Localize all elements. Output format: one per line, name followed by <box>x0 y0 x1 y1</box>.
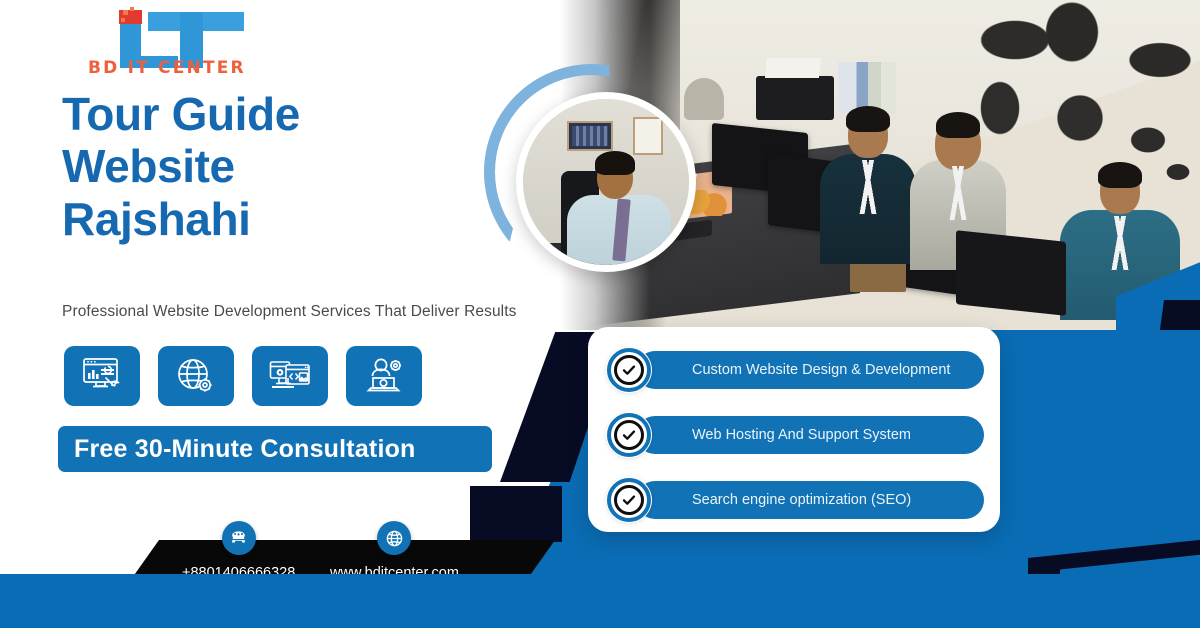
contact-phone[interactable]: +8801406666328 <box>182 521 295 581</box>
laptop <box>956 230 1066 316</box>
support-agent-laptop-gear-icon[interactable] <box>346 346 422 406</box>
check-circle-icon <box>606 412 652 458</box>
tagline: Professional Website Development Service… <box>62 303 562 321</box>
office-chair <box>684 78 724 120</box>
decorative-navy-block <box>470 486 562 542</box>
headline-line-2: Website <box>62 140 522 192</box>
logo-red-dot <box>119 10 142 24</box>
feature-item[interactable]: Web Hosting And Support System <box>606 408 982 462</box>
check-circle-icon <box>606 347 652 393</box>
web-design-code-icon[interactable] <box>252 346 328 406</box>
globe-icon <box>377 521 411 555</box>
feature-item[interactable]: Search engine optimization (SEO) <box>606 473 982 527</box>
globe-gear-icon[interactable] <box>158 346 234 406</box>
monitor-analytics-wrench-icon[interactable] <box>64 346 140 406</box>
wall-photo-frame <box>567 121 613 151</box>
feature-item[interactable]: Custom Website Design & Development <box>606 343 982 397</box>
check-circle-icon <box>606 477 652 523</box>
promotional-banner: BD IT CENTER Tour Guide Website Rajshahi… <box>0 0 1200 628</box>
feature-label: Web Hosting And Support System <box>636 416 984 454</box>
printer-icon <box>756 76 834 120</box>
contact-website[interactable]: www.bditcenter.com <box>330 521 459 581</box>
cta-button[interactable]: Free 30-Minute Consultation <box>58 426 492 472</box>
portrait-photo <box>516 92 696 272</box>
page-title: Tour Guide Website Rajshahi <box>62 88 522 245</box>
logo-wordmark: BD IT CENTER <box>88 58 268 78</box>
wall-certificate <box>633 117 663 155</box>
headline-line-1: Tour Guide <box>62 88 522 140</box>
service-icon-row <box>64 346 422 406</box>
feature-label: Search engine optimization (SEO) <box>636 481 984 519</box>
features-card: Custom Website Design & Development Web … <box>588 327 1000 532</box>
telephone-icon <box>222 521 256 555</box>
logo-mark-it <box>106 6 266 54</box>
bottom-accent-bar <box>0 574 1200 628</box>
company-logo[interactable]: BD IT CENTER <box>88 6 268 78</box>
feature-label: Custom Website Design & Development <box>636 351 984 389</box>
headline-line-3: Rajshahi <box>62 193 522 245</box>
